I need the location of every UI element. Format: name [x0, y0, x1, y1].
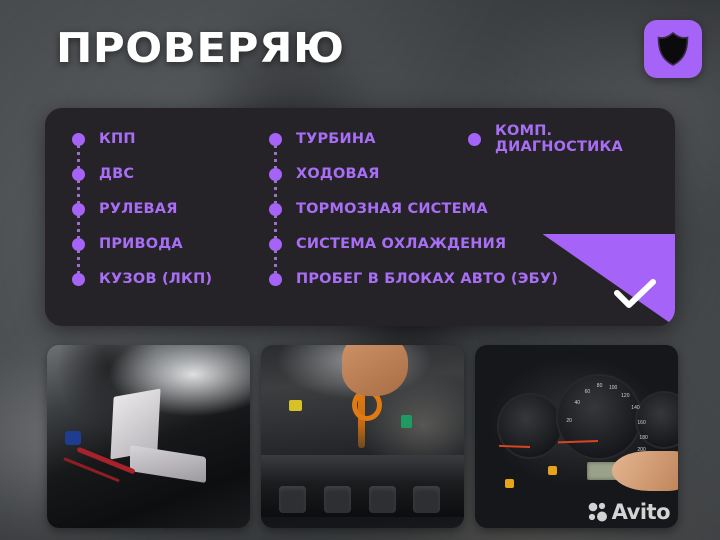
cable-blue [65, 431, 81, 445]
warning-light [505, 479, 514, 488]
list-item[interactable]: КУЗОВ (ЛКП) [72, 262, 212, 297]
list-item[interactable]: КОМП. ДИАГНОСТИКА [468, 122, 645, 157]
list-item-label: КПП [99, 132, 136, 148]
list-item[interactable]: ХОДОВАЯ [269, 157, 558, 192]
list-item[interactable]: РУЛЕВАЯ [72, 192, 212, 227]
ignition-coil [279, 486, 306, 513]
photo-strip: 20 40 60 80 100 120 140 160 180 200 Avit [47, 345, 678, 528]
bullet-marker [269, 262, 282, 297]
ignition-coil [324, 486, 351, 513]
avito-logo-icon [587, 501, 609, 523]
shield-badge [644, 20, 702, 78]
gauge-tick: 60 [585, 389, 591, 395]
shield-icon [656, 31, 690, 67]
list-item-label: КУЗОВ (ЛКП) [99, 272, 212, 288]
photo-laptop-diagnostics[interactable] [47, 345, 250, 528]
warning-light [548, 466, 557, 475]
verified-corner [543, 234, 675, 326]
list-item-label: ТОРМОЗНАЯ СИСТЕМА [296, 202, 488, 218]
list-item[interactable]: ПРОБЕГ В БЛОКАХ АВТО (ЭБУ) [269, 262, 558, 297]
list-item-label: ПРИВОДА [99, 237, 183, 253]
tachometer-gauge [497, 393, 563, 459]
bullet-marker [269, 122, 282, 157]
checklist-column-3: КОМП. ДИАГНОСТИКА [468, 122, 645, 157]
finger [612, 451, 678, 491]
list-item-label: РУЛЕВАЯ [99, 202, 178, 218]
list-item-label: ТУРБИНА [296, 132, 376, 148]
list-item[interactable]: ДВС [72, 157, 212, 192]
avito-watermark-text: Avito [612, 500, 670, 524]
photo-oil-dipstick[interactable] [261, 345, 464, 528]
list-item[interactable]: ПРИВОДА [72, 227, 212, 262]
photo-dashboard-odometer[interactable]: 20 40 60 80 100 120 140 160 180 200 Avit [475, 345, 678, 528]
gauge-tick: 140 [631, 405, 639, 411]
bullet-marker [269, 157, 282, 192]
list-item[interactable]: СИСТЕМА ОХЛАЖДЕНИЯ [269, 227, 558, 262]
list-item-label: ПРОБЕГ В БЛОКАХ АВТО (ЭБУ) [296, 272, 558, 288]
bullet-marker [269, 227, 282, 262]
list-item-label: КОМП. ДИАГНОСТИКА [495, 124, 645, 155]
ignition-coil [413, 486, 440, 513]
green-cap [401, 415, 412, 428]
bullet-marker [468, 122, 481, 157]
gauge-tick: 40 [574, 400, 580, 406]
bullet-marker [72, 262, 85, 297]
checklist-column-1: КПП ДВС РУЛЕВАЯ [72, 122, 212, 297]
list-item[interactable]: КПП [72, 122, 212, 157]
ignition-coil [369, 486, 396, 513]
gauge-tick: 80 [597, 383, 603, 389]
avito-watermark: Avito [587, 500, 670, 524]
laptop-base [130, 445, 206, 483]
page-title: ПРОВЕРЯЮ [56, 28, 345, 69]
list-item-label: ХОДОВАЯ [296, 167, 380, 183]
list-item-label: ДВС [99, 167, 134, 183]
yellow-cap [289, 400, 302, 411]
poster-canvas: ПРОВЕРЯЮ КПП ДВС [0, 0, 720, 540]
gauge-tick: 180 [639, 435, 647, 441]
gauge-tick: 20 [566, 418, 572, 424]
bullet-marker [72, 122, 85, 157]
checklist-card: КПП ДВС РУЛЕВАЯ [45, 108, 675, 326]
hand [342, 345, 408, 396]
bullet-marker [72, 157, 85, 192]
list-item[interactable]: ТОРМОЗНАЯ СИСТЕМА [269, 192, 558, 227]
gauge-tick: 160 [637, 420, 645, 426]
gauge-tick: 120 [621, 393, 629, 399]
list-item-label: СИСТЕМА ОХЛАЖДЕНИЯ [296, 237, 506, 253]
gauge-tick: 100 [609, 385, 617, 391]
bullet-marker [72, 192, 85, 227]
bullet-marker [269, 192, 282, 227]
bullet-marker [72, 227, 85, 262]
